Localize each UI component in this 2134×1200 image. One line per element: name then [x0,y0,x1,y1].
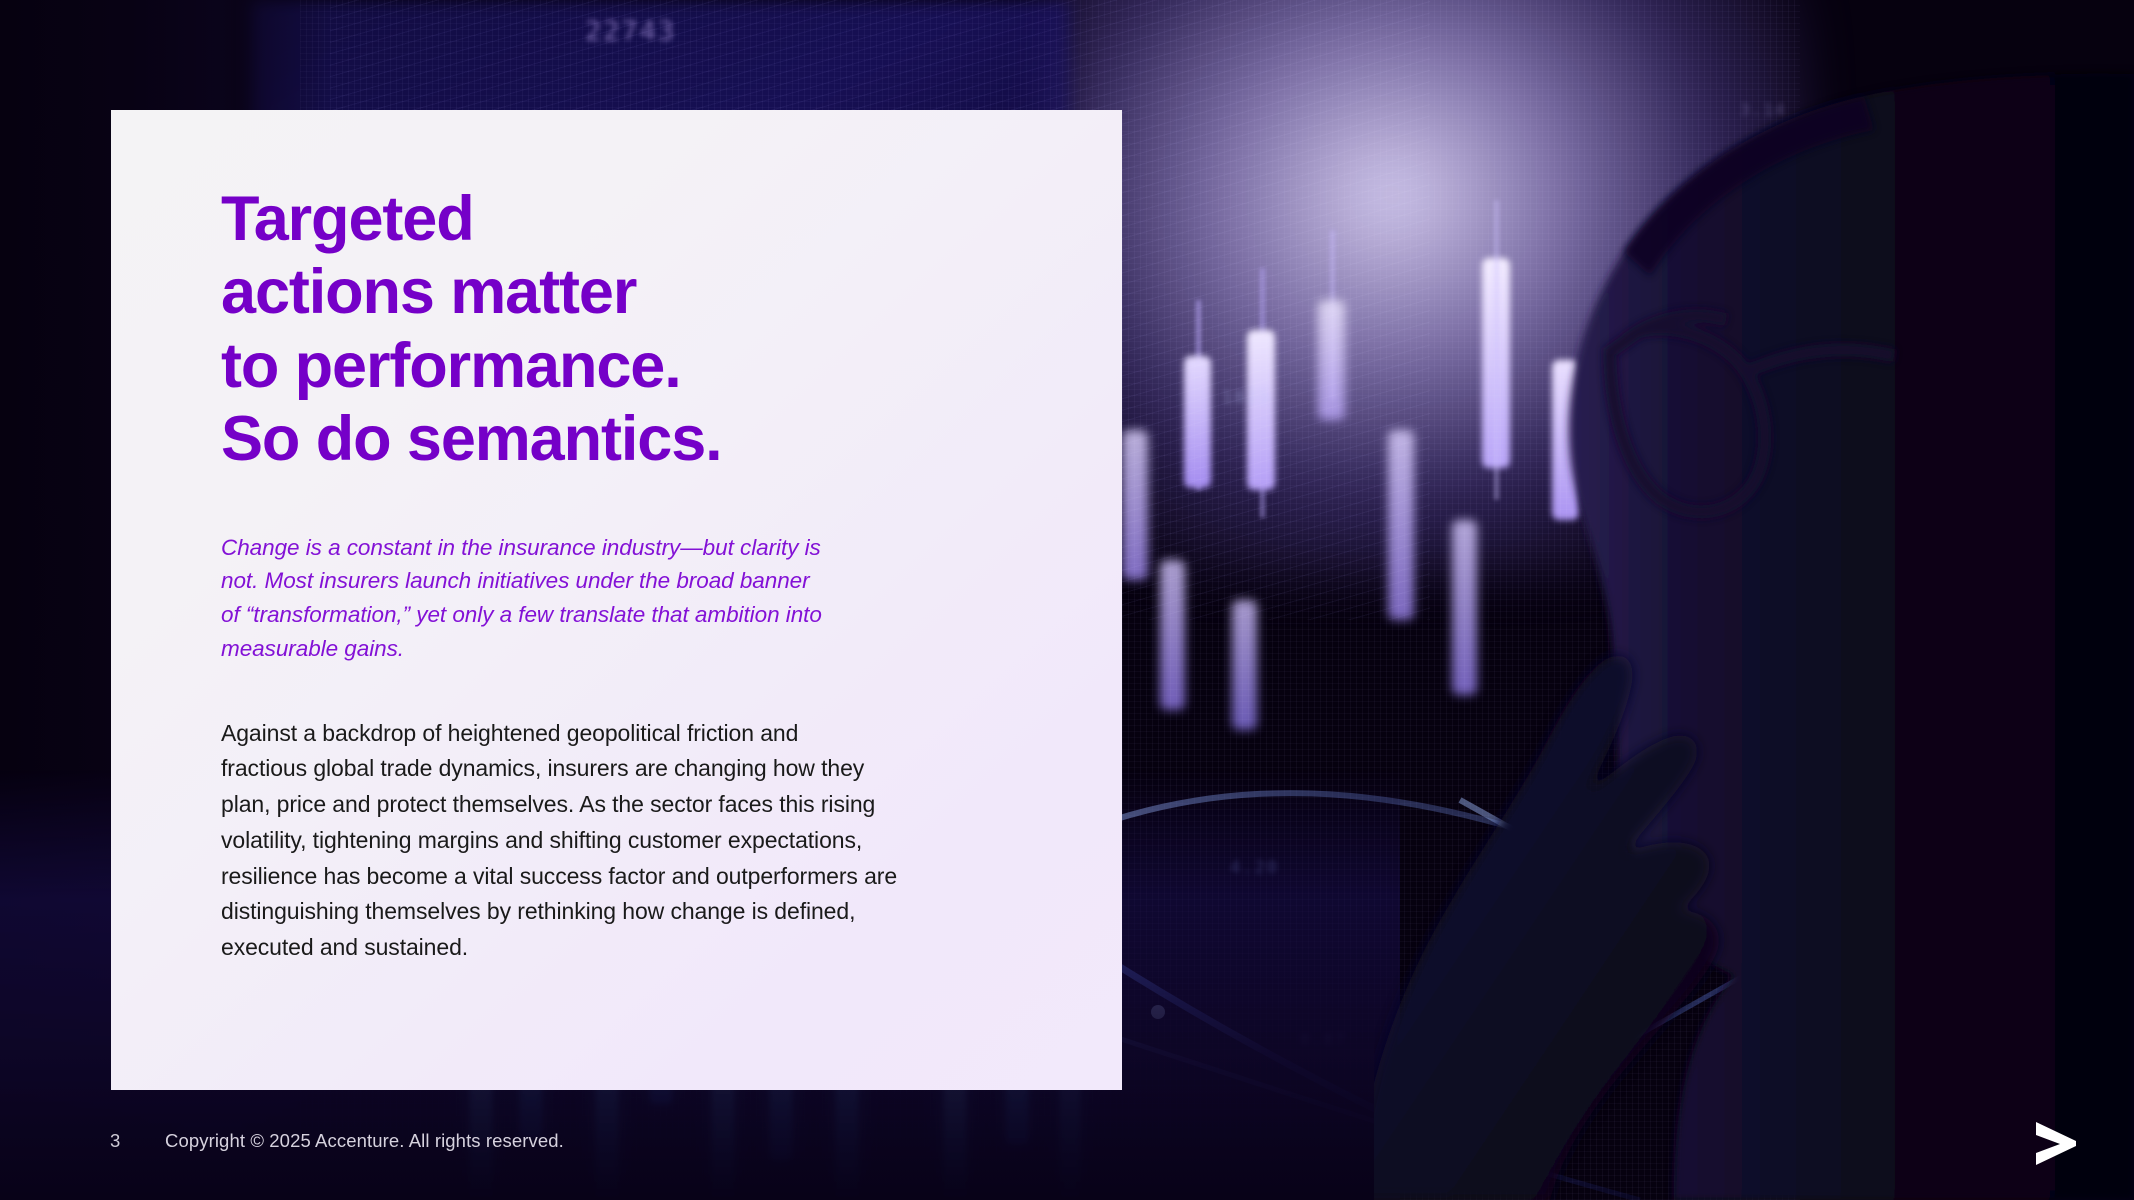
headline-line: actions matter [221,256,1051,329]
lead-line: measurable gains. [221,632,921,666]
body-line: fractious global trade dynamics, insurer… [221,751,1021,787]
page-number: 3 [110,1130,121,1152]
copyright-text: Copyright © 2025 Accenture. All rights r… [165,1130,564,1152]
body-line: volatility, tightening margins and shift… [221,823,1021,859]
lead-line: Change is a constant in the insurance in… [221,531,921,565]
headline-line: Targeted [221,183,1051,256]
headline-line: to performance. [221,330,1051,403]
ticker-digits-top: 22743 [585,16,676,47]
body-line: plan, price and protect themselves. As t… [221,787,1021,823]
slide-footer: 3 Copyright © 2025 Accenture. All rights… [0,1090,2134,1200]
lead-paragraph: Change is a constant in the insurance in… [221,531,921,666]
presentation-slide: 22743 1825 4.20 0.87 3.14 [0,0,2134,1200]
lead-line: of “transformation,” yet only a few tran… [221,598,921,632]
ticker-digits-mid: 1825 [1222,388,1271,408]
person-silhouette [1374,0,2134,1200]
page-title: Targeted actions matter to performance. … [221,183,1051,477]
content-card: Targeted actions matter to performance. … [111,110,1122,1090]
lead-line: not. Most insurers launch initiatives un… [221,564,921,598]
body-line: executed and sustained. [221,930,1021,966]
headline-line: So do semantics. [221,403,1051,476]
body-line: resilience has become a vital success fa… [221,859,1021,895]
body-paragraph: Against a backdrop of heightened geopoli… [221,716,1021,966]
accenture-logo-icon [2034,1118,2078,1166]
body-line: distinguishing themselves by rethinking … [221,894,1021,930]
body-line: Against a backdrop of heightened geopoli… [221,716,1021,752]
